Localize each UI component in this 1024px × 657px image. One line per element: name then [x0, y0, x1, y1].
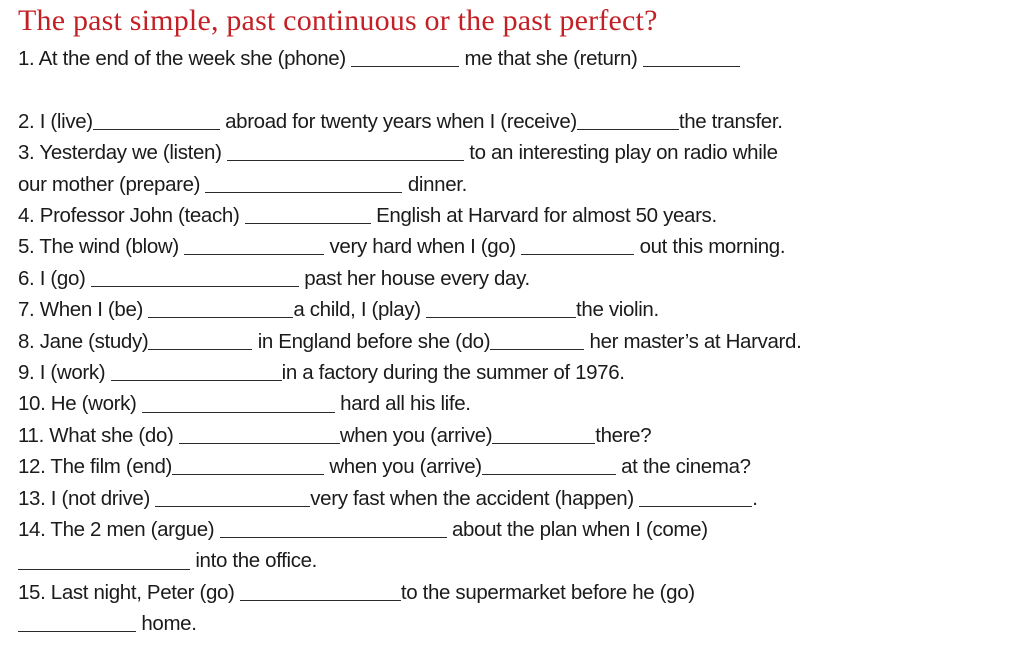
exercise-line: 12. The film (end) when you (arrive) at …	[0, 451, 1024, 482]
answer-blank[interactable]	[91, 266, 299, 286]
exercise-line: our mother (prepare) dinner.	[0, 169, 1024, 200]
exercise-text: home.	[136, 612, 197, 635]
exercise-text: 9. I (work)	[18, 361, 111, 384]
answer-blank[interactable]	[245, 204, 371, 224]
exercise-text: a child, I (play)	[293, 298, 426, 321]
answer-blank[interactable]	[111, 361, 282, 381]
exercise-line: 3. Yesterday we (listen) to an interesti…	[0, 137, 1024, 168]
exercise-text: very fast when the accident (happen)	[310, 487, 639, 510]
answer-blank[interactable]	[240, 580, 401, 600]
exercise-line: 9. I (work) in a factory during the summ…	[0, 357, 1024, 388]
answer-blank[interactable]	[482, 455, 616, 475]
exercise-text: 12. The film (end)	[18, 455, 172, 478]
exercise-text: at the cinema?	[616, 455, 751, 478]
answer-blank[interactable]	[172, 455, 324, 475]
exercise-text: .	[752, 487, 757, 510]
exercise-line: 8. Jane (study) in England before she (d…	[0, 326, 1024, 357]
answer-blank[interactable]	[227, 141, 464, 161]
exercise-text: me that she (return)	[459, 47, 643, 70]
exercise-line: 7. When I (be) a child, I (play) the vio…	[0, 294, 1024, 325]
exercise-text: very hard when I (go)	[324, 235, 521, 258]
answer-blank[interactable]	[148, 329, 252, 349]
answer-blank[interactable]	[155, 486, 310, 506]
exercise-text: about the plan when I (come)	[447, 518, 708, 541]
exercise-text: 7. When I (be)	[18, 298, 148, 321]
answer-blank[interactable]	[490, 329, 584, 349]
exercise-line: 4. Professor John (teach) English at Har…	[0, 200, 1024, 231]
answer-blank[interactable]	[142, 392, 335, 412]
exercise-text: 10. He (work)	[18, 392, 142, 415]
answer-blank[interactable]	[184, 235, 324, 255]
exercise-text: 3. Yesterday we (listen)	[18, 141, 227, 164]
exercise-text: 2. I (live)	[18, 110, 93, 133]
answer-blank[interactable]	[179, 423, 340, 443]
exercise-text: to an interesting play on radio while	[464, 141, 778, 164]
exercise-text: past her house every day.	[299, 267, 530, 290]
exercise-text: 4. Professor John (teach)	[18, 204, 245, 227]
exercise-text: 14. The 2 men (argue)	[18, 518, 220, 541]
exercise-text: 6. I (go)	[18, 267, 91, 290]
answer-blank[interactable]	[351, 47, 459, 67]
exercise-text: 1. At the end of the week she (phone)	[18, 47, 351, 70]
exercise-text: 8. Jane (study)	[18, 330, 148, 353]
exercise-text: English at Harvard for almost 50 years.	[371, 204, 717, 227]
exercise-text: into the office.	[190, 549, 317, 572]
answer-blank[interactable]	[220, 518, 447, 538]
answer-blank[interactable]	[639, 486, 752, 506]
answer-blank[interactable]	[18, 549, 190, 569]
page-title: The past simple, past continuous or the …	[18, 4, 1024, 38]
exercise-line: home.	[0, 608, 1024, 639]
exercise-text: 5. The wind (blow)	[18, 235, 184, 258]
exercise-text: there?	[595, 424, 651, 447]
exercise-line: 10. He (work) hard all his life.	[0, 388, 1024, 419]
exercise-text: 11. What she (do)	[18, 424, 179, 447]
exercise-text: 13. I (not drive)	[18, 487, 155, 510]
exercise-text: our mother (prepare)	[18, 173, 205, 196]
exercise-text: hard all his life.	[335, 392, 471, 415]
worksheet-page: The past simple, past continuous or the …	[0, 4, 1024, 657]
exercise-text: in England before she (do)	[252, 330, 490, 353]
answer-blank[interactable]	[577, 109, 679, 129]
exercise-text: abroad for twenty years when I (receive)	[220, 110, 577, 133]
exercise-text: when you (arrive)	[324, 455, 482, 478]
answer-blank[interactable]	[521, 235, 634, 255]
exercise-line: 1. At the end of the week she (phone) me…	[0, 43, 1024, 74]
answer-blank[interactable]	[148, 298, 293, 318]
exercise-text: out this morning.	[634, 235, 785, 258]
answer-blank[interactable]	[426, 298, 576, 318]
exercise-text: the transfer.	[679, 110, 783, 133]
exercise-line: 15. Last night, Peter (go) to the superm…	[0, 577, 1024, 608]
answer-blank[interactable]	[93, 109, 220, 129]
exercise-line: 2. I (live) abroad for twenty years when…	[0, 106, 1024, 137]
exercise-line: 14. The 2 men (argue) about the plan whe…	[0, 514, 1024, 545]
answer-blank[interactable]	[205, 172, 402, 192]
exercise-line: into the office.	[0, 545, 1024, 576]
exercise-text: 15. Last night, Peter (go)	[18, 581, 240, 604]
answer-blank[interactable]	[492, 423, 595, 443]
exercise-line: 13. I (not drive) very fast when the acc…	[0, 483, 1024, 514]
exercise-text: her master’s at Harvard.	[584, 330, 801, 353]
exercise-list: 1. At the end of the week she (phone) me…	[0, 43, 1024, 640]
exercise-text: in a factory during the summer of 1976.	[282, 361, 625, 384]
answer-blank[interactable]	[18, 612, 136, 632]
exercise-text: to the supermarket before he (go)	[401, 581, 695, 604]
exercise-text: dinner.	[402, 173, 466, 196]
exercise-line: 11. What she (do) when you (arrive)there…	[0, 420, 1024, 451]
exercise-text: the violin.	[576, 298, 659, 321]
exercise-text: when you (arrive)	[340, 424, 492, 447]
exercise-line: 5. The wind (blow) very hard when I (go)…	[0, 231, 1024, 262]
answer-blank[interactable]	[643, 47, 740, 67]
exercise-line: 6. I (go) past her house every day.	[0, 263, 1024, 294]
